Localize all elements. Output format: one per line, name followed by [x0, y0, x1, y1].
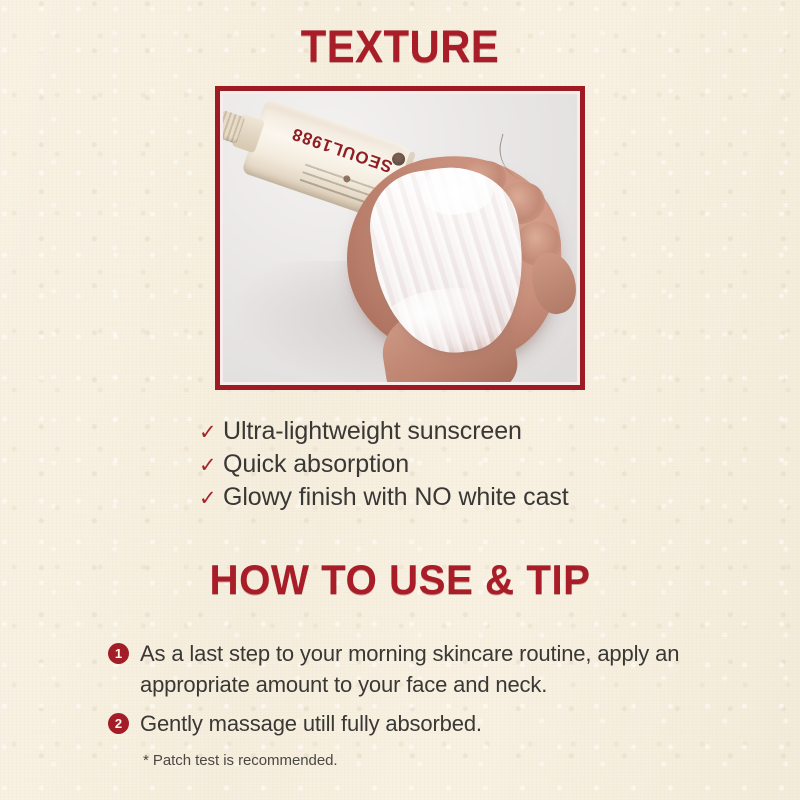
- step-number-badge: 2: [108, 713, 129, 734]
- product-photo-frame: SEOUL1988: [215, 86, 585, 390]
- benefit-item: ✓ Quick absorption: [199, 448, 569, 481]
- step-item: 1 As a last step to your morning skincar…: [108, 638, 728, 700]
- product-detail-page: TEXTURE SEOUL1988: [0, 0, 800, 800]
- benefit-label: Ultra-lightweight sunscreen: [223, 415, 522, 448]
- step-text: Gently massage utill fully absorbed.: [140, 708, 482, 739]
- hand-swatch: [347, 156, 575, 382]
- benefit-list: ✓ Ultra-lightweight sunscreen ✓ Quick ab…: [199, 415, 569, 514]
- benefit-item: ✓ Glowy finish with NO white cast: [199, 481, 569, 514]
- how-to-use-steps: 1 As a last step to your morning skincar…: [108, 638, 728, 747]
- section-title-how-to-use: HOW TO USE & TIP: [16, 556, 784, 604]
- step-number-badge: 1: [108, 643, 129, 664]
- check-icon: ✓: [199, 488, 223, 509]
- page-title-texture: TEXTURE: [28, 21, 772, 73]
- product-photo: SEOUL1988: [223, 94, 577, 382]
- benefit-label: Quick absorption: [223, 448, 409, 481]
- step-text: As a last step to your morning skincare …: [140, 638, 728, 700]
- step-item: 2 Gently massage utill fully absorbed.: [108, 708, 728, 739]
- footnote-patch-test: * Patch test is recommended.: [143, 752, 338, 769]
- benefit-label: Glowy finish with NO white cast: [223, 481, 569, 514]
- check-icon: ✓: [199, 422, 223, 443]
- cream-swatch: [363, 159, 535, 363]
- benefit-item: ✓ Ultra-lightweight sunscreen: [199, 415, 569, 448]
- check-icon: ✓: [199, 455, 223, 476]
